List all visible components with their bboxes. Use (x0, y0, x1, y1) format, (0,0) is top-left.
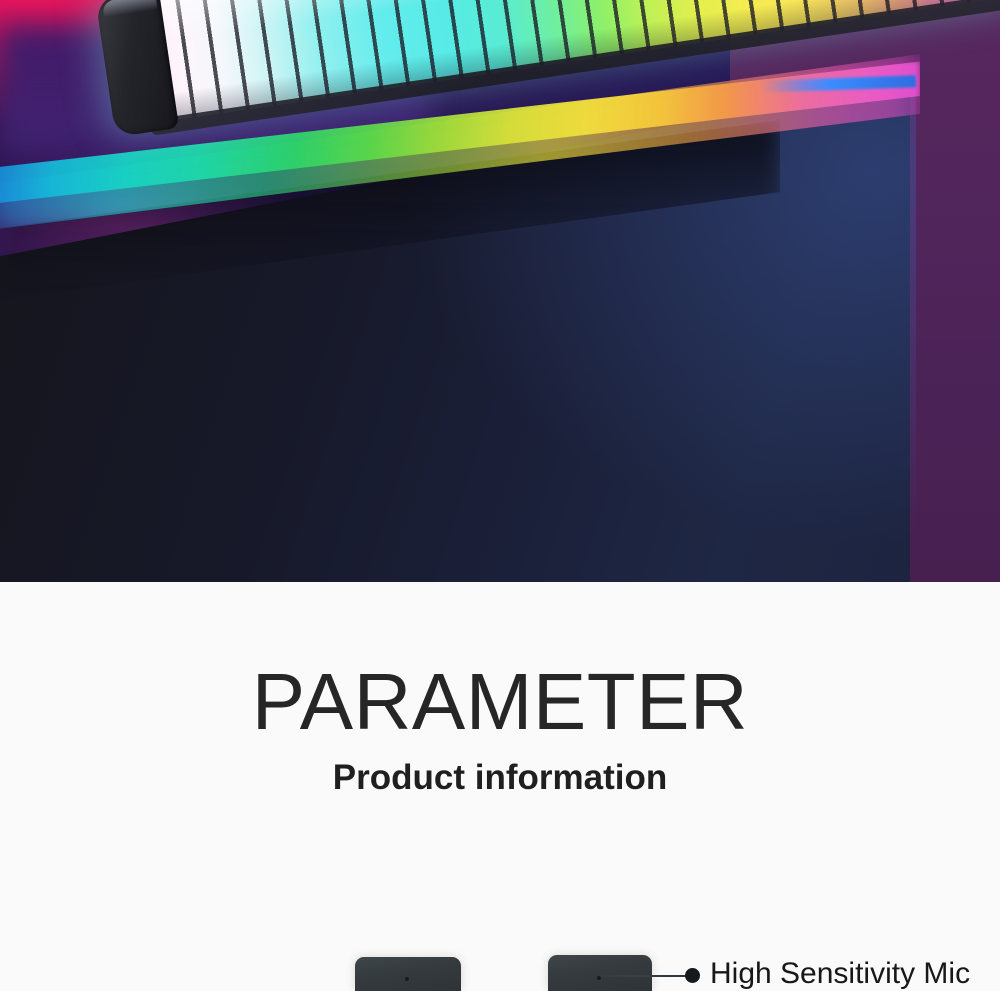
product-information-section: PARAMETER Product information High Sensi… (0, 582, 1000, 991)
mic-hole-icon (405, 977, 409, 981)
product-unit-right (548, 955, 652, 991)
product-detail-page: PARAMETER Product information High Sensi… (0, 0, 1000, 991)
hero-product-photo (0, 0, 1000, 582)
product-unit-left (355, 957, 461, 991)
callout-leader-line (601, 975, 693, 977)
callout-dot-icon (685, 968, 700, 983)
section-subheadline: Product information (0, 760, 1000, 795)
callout-label-high-sensitivity-mic: High Sensitivity Mic (710, 959, 970, 989)
section-headline: PARAMETER (0, 662, 1000, 742)
